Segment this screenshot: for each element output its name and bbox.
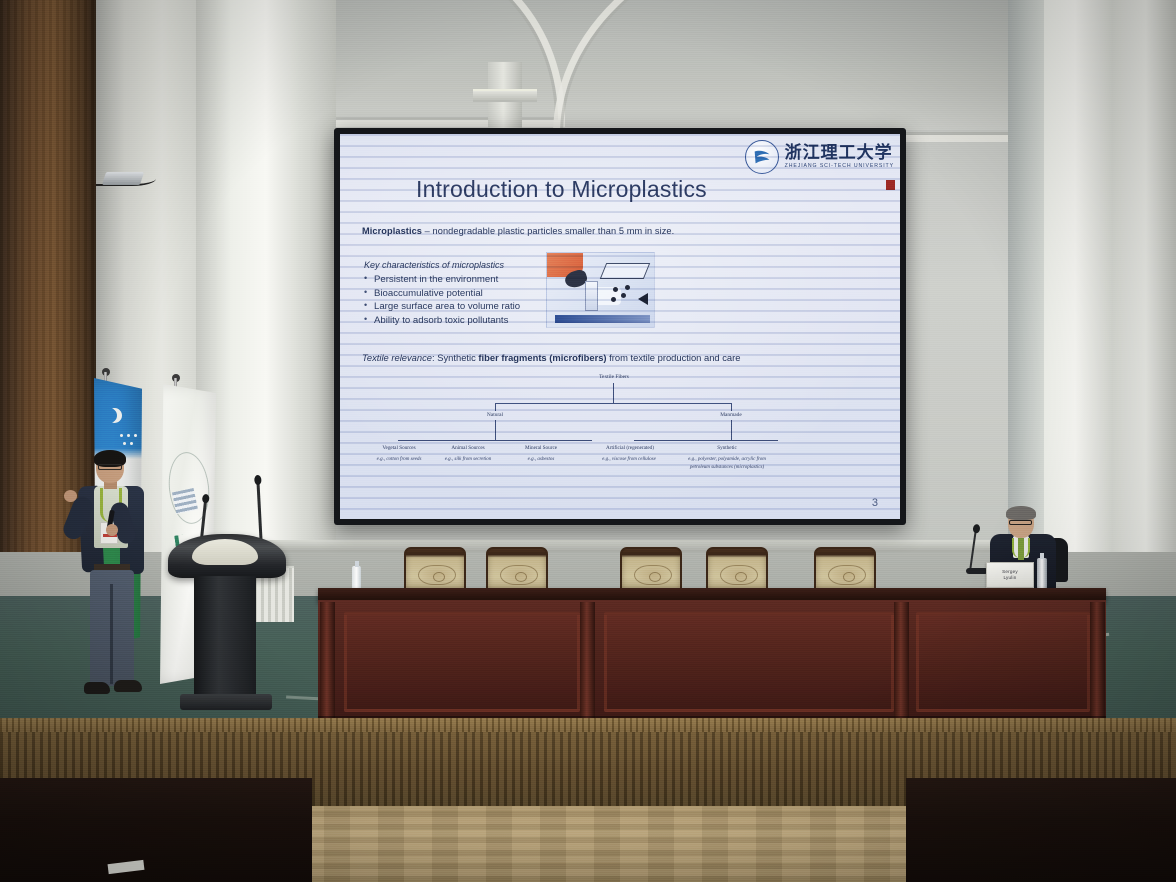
table-pilaster [320,602,335,720]
tree-root-label: Textile Fibers [574,374,654,380]
shoe-left [84,682,110,694]
photo-particle [611,297,616,302]
chair-crest [720,565,758,585]
presidium-chair [486,547,548,591]
photo-caption-bar [555,315,650,323]
glasses-icon [98,464,122,470]
tree-connector [634,440,778,441]
tree-leaf-example: e.g., silk from secretion [437,456,499,464]
tree-leaf-example: e.g., asbestos [510,456,572,464]
university-logo: 浙江理工大学 ZHEJIANG SCI-TECH UNIVERSITY [745,140,894,174]
table-pilaster [580,602,595,720]
chair-back [486,547,548,591]
floor-light-fixture [102,172,144,185]
hand-left [64,490,77,502]
tree-connector [731,420,732,440]
textile-relevance-pre: : Synthetic [432,352,478,363]
key-characteristics-heading: Key characteristics of microplastics [364,260,574,270]
curtain-left [196,0,336,560]
microphone-base [966,568,988,574]
audience-desk-left [0,778,312,882]
key-characteristics-list: Persistent in the environment Bioaccumul… [364,274,574,326]
laboratory-microplastics-photo [546,252,655,328]
tree-leaf-example: e.g., polyester, polyamide, acrylic from… [688,456,766,471]
nameplate: Sergey Lyulin [986,562,1034,588]
tree-connector [731,403,732,411]
star-icon [127,434,130,437]
table-panel [916,612,1090,712]
textile-relevance-bold: fiber fragments (microfibers) [478,352,606,363]
photo-arrow-marker [638,293,648,305]
textile-relevance-line: Textile relevance: Synthetic fiber fragm… [362,352,741,363]
lanyard [1012,538,1030,558]
tree-leaf-label: Artificial (regenerated) [587,445,673,451]
table-pilaster [1090,602,1105,720]
speaker-podium [168,534,286,720]
chair-crest [634,565,672,585]
podium-column [194,576,256,698]
podium-top [168,534,286,578]
podium-desk-surface [192,539,258,565]
trousers [90,570,134,686]
slide-title: Introduction to Microplastics [416,176,707,203]
presidium-chair [404,547,466,591]
tree-branch-label: Manmade [701,412,761,418]
tree-leaf-label: Mineral Source [510,445,572,451]
chair-crest [828,565,866,585]
star-icon [130,442,133,445]
star-icon [123,442,126,445]
chair-crest [500,565,538,585]
chair-crest [418,565,456,585]
projected-slide: 浙江理工大学 ZHEJIANG SCI-TECH UNIVERSITY Intr… [340,134,900,519]
star-icon [134,434,137,437]
star-icon [120,434,123,437]
slide-content: 浙江理工大学 ZHEJIANG SCI-TECH UNIVERSITY Intr… [340,134,900,519]
water-bottle [1037,558,1047,590]
chair-back [814,547,876,591]
presenter [62,452,158,710]
presidium-chair [620,547,682,591]
ceiling-arch-center [560,0,1080,135]
tree-leaf-example: e.g., viscose from cellulose [590,456,668,464]
audience-desk-right [906,778,1176,882]
logo-english-name: ZHEJIANG SCI-TECH UNIVERSITY [785,164,894,169]
table-panel [344,612,580,712]
logo-chinese-name: 浙江理工大学 [785,145,894,162]
logo-red-accent [886,180,895,190]
column-capital-left [473,89,537,102]
table-panel [604,612,894,712]
textile-relevance-label: Textile relevance [362,352,432,363]
nameplate-last-name: Lyulin [1003,575,1016,581]
list-item: Ability to adsorb toxic pollutants [374,315,574,326]
table-pilaster [894,602,909,720]
emblem-bars [172,488,198,514]
list-item: Persistent in the environment [374,274,574,285]
key-characteristics-block: Key characteristics of microplastics Per… [364,260,574,328]
hair [1006,506,1036,520]
tree-connector [613,383,614,403]
list-item: Bioaccumulative potential [374,288,574,299]
definition-term: Microplastics [362,226,422,236]
presidium-chair [706,547,768,591]
projection-screen: 浙江理工大学 ZHEJIANG SCI-TECH UNIVERSITY Intr… [334,128,906,525]
crescent-icon [102,408,117,423]
tree-connector [495,420,496,440]
chair-back [620,547,682,591]
tree-leaf-example: e.g., cotton from seeds [368,456,430,464]
photo-particle [621,293,626,298]
tree-leaf-label: Vegetal Sources [368,445,430,451]
fiber-classification-diagram: Textile Fibers Natural Manmade Vegetal S… [362,374,882,494]
photo-test-tube [585,281,598,311]
tree-leaf-label: Synthetic [692,445,762,451]
chair-back [706,547,768,591]
photo-tray [600,263,650,279]
conference-hall-photo: 浙江理工大学 ZHEJIANG SCI-TECH UNIVERSITY Intr… [0,0,1176,882]
microplastics-definition: Microplastics – nondegradable plastic pa… [362,226,674,236]
slide-number: 3 [872,497,878,509]
photo-particle [625,285,630,290]
photo-particle [613,287,618,292]
tree-branch-label: Natural [465,412,525,418]
tree-leaf-label: Animal Sources [437,445,499,451]
chair-back [404,547,466,591]
textile-relevance-post: from textile production and care [607,352,741,363]
tree-connector [495,403,496,411]
hand-right [106,524,118,536]
definition-rest: – nondegradable plastic particles smalle… [422,226,674,236]
zstu-z-icon [745,140,779,174]
shoe-right [114,680,142,692]
tree-connector [495,403,731,404]
presidium-chair [814,547,876,591]
list-item: Large surface area to volume ratio [374,301,574,312]
tree-connector [398,440,592,441]
podium-base [180,694,272,710]
glasses-icon [1009,520,1032,525]
